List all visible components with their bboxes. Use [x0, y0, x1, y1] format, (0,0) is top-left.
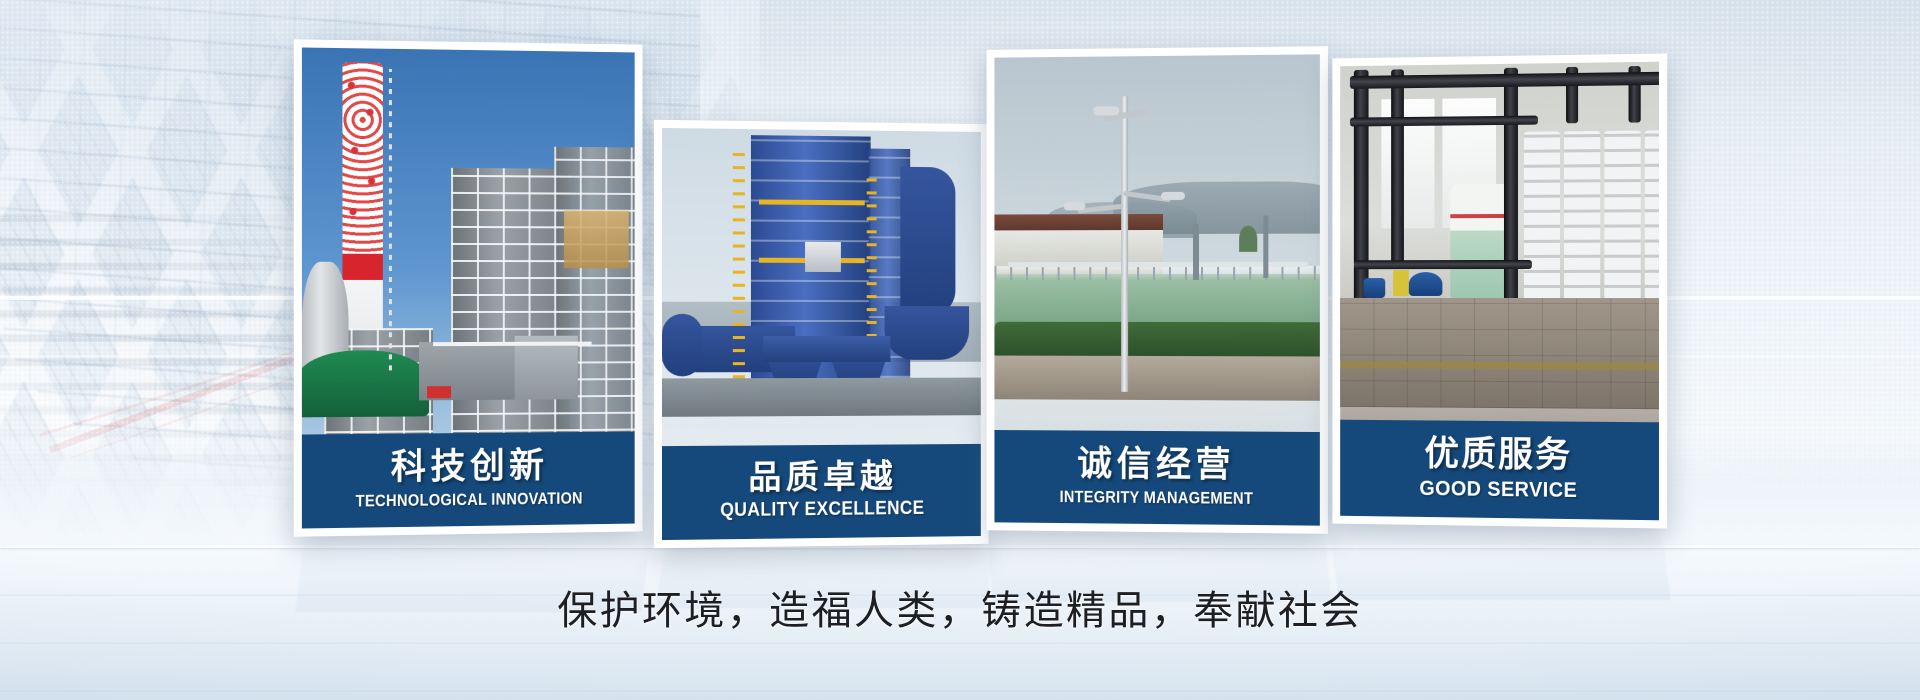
caption-title-cn: 科技创新: [310, 446, 627, 489]
caption-title-en: TECHNOLOGICAL INNOVATION: [333, 488, 605, 512]
caption-title-en: QUALITY EXCELLENCE: [682, 498, 961, 524]
caption-title-en: INTEGRITY MANAGEMENT: [1024, 486, 1290, 509]
value-card-good-service[interactable]: 优质服务 GOOD SERVICE: [1332, 54, 1667, 529]
caption-title-cn: 优质服务: [1348, 433, 1651, 475]
caption-band: 诚信经营 INTEGRITY MANAGEMENT: [994, 430, 1319, 525]
value-card-quality-excellence[interactable]: 品质卓越 QUALITY EXCELLENCE: [654, 120, 989, 548]
caption-title-cn: 品质卓越: [670, 458, 973, 498]
banner-tagline: 保护环境，造福人类，铸造精品，奉献社会: [0, 578, 1920, 636]
caption-band: 品质卓越 QUALITY EXCELLENCE: [662, 444, 981, 540]
value-card-technological-innovation[interactable]: 科技创新 TECHNOLOGICAL INNOVATION: [294, 39, 643, 536]
background-facade-louvers: [0, 210, 330, 510]
value-card-inner: 品质卓越 QUALITY EXCELLENCE: [662, 128, 981, 540]
caption-title-en: GOOD SERVICE: [1355, 475, 1643, 504]
value-card-inner: 诚信经营 INTEGRITY MANAGEMENT: [994, 54, 1319, 525]
background-floor-edge: [0, 545, 1920, 548]
caption-title-cn: 诚信经营: [1002, 444, 1311, 486]
value-card-inner: 科技创新 TECHNOLOGICAL INNOVATION: [302, 47, 635, 528]
caption-band: 优质服务 GOOD SERVICE: [1340, 419, 1659, 520]
value-card-inner: 优质服务 GOOD SERVICE: [1340, 62, 1659, 521]
values-banner: 科技创新 TECHNOLOGICAL INNOVATION: [0, 0, 1920, 700]
caption-band: 科技创新 TECHNOLOGICAL INNOVATION: [302, 432, 635, 529]
value-card-integrity-management[interactable]: 诚信经营 INTEGRITY MANAGEMENT: [987, 46, 1328, 534]
